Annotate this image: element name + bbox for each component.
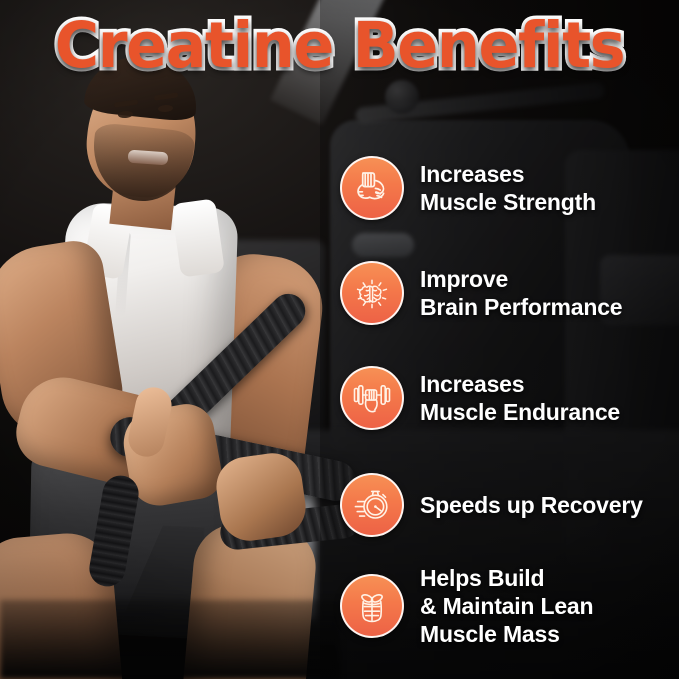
abs-torso-icon [340,574,404,638]
gym-floor [0,600,340,679]
hand-dumbbell-icon [340,366,404,430]
benefit-item-speeds-recovery[interactable]: Speeds up Recovery [340,473,643,537]
benefit-label: Improve Brain Performance [420,265,622,321]
benefit-item-brain-performance[interactable]: Improve Brain Performance [340,261,622,325]
benefit-item-lean-muscle-mass[interactable]: Helps Build & Maintain Lean Muscle Mass [340,564,593,648]
benefit-item-muscle-strength[interactable]: Increases Muscle Strength [340,156,596,220]
benefit-label: Increases Muscle Endurance [420,370,620,426]
poster-root: Creatine Benefits Increases Muscle Stren… [0,0,679,679]
athlete-mouth [128,150,169,166]
page-title: Creatine Benefits [14,14,666,77]
gym-knob [385,80,419,114]
benefit-label: Speeds up Recovery [420,491,643,519]
benefit-item-muscle-endurance[interactable]: Increases Muscle Endurance [340,366,620,430]
athlete-figure [0,55,340,679]
brain-icon [340,261,404,325]
benefit-label: Increases Muscle Strength [420,160,596,216]
athlete-beard [88,122,195,206]
benefit-label: Helps Build & Maintain Lean Muscle Mass [420,564,593,648]
benefits-list: Increases Muscle Strength Improve Brain … [340,148,679,668]
stopwatch-speed-icon [340,473,404,537]
flexed-bicep-icon [340,156,404,220]
